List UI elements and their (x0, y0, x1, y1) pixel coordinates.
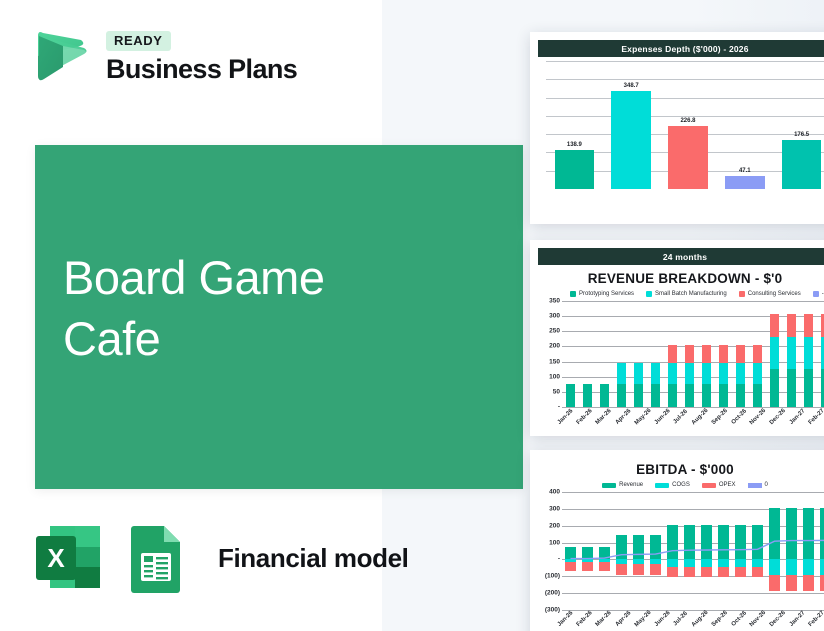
play-triangle-logo-icon (30, 26, 92, 88)
chart-header-revenue: 24 months (538, 248, 824, 265)
x-tick-label: May-26 (634, 610, 653, 629)
stacked-bar (787, 314, 797, 407)
x-tick-slot: Jan-26 (556, 616, 575, 622)
x-tick-label: Nov-26 (749, 408, 767, 426)
bar-segment (634, 384, 644, 407)
bar-segment (804, 369, 814, 407)
legend-label: Small Batch Manufacturing (655, 291, 727, 297)
x-tick-label: Dec-26 (769, 610, 787, 628)
legend-swatch (702, 483, 716, 488)
bar-segment (787, 369, 797, 407)
bar-segment (702, 384, 712, 407)
bar-slot (613, 301, 630, 407)
y-tick-label: 100 (549, 539, 560, 546)
stacked-bar (685, 345, 695, 407)
x-tick-label: Feb-26 (576, 610, 594, 628)
hero-panel: Board Game Cafe (35, 145, 523, 489)
google-sheets-icon (120, 520, 192, 596)
bar-segment (753, 363, 763, 384)
page-title: Board Game Cafe (63, 247, 324, 369)
x-tick-label: Feb-27 (808, 408, 824, 426)
chart-legend-ebitda: RevenueCOGSOPEX0 (530, 482, 824, 488)
x-tick-slot: Feb-26 (575, 616, 594, 622)
x-tick-slot: Apr-26 (614, 414, 633, 420)
chart-header-expenses: Expenses Depth ($'000) - 2026 (538, 40, 824, 57)
legend-swatch (739, 291, 745, 297)
bar (782, 140, 822, 189)
legend-swatch (655, 483, 669, 488)
stacked-bar (736, 345, 746, 407)
bar-segment (719, 345, 729, 363)
x-tick-slot: Oct-26 (730, 616, 749, 622)
gridline (562, 407, 824, 408)
bar-slot (800, 301, 817, 407)
chart-card-ebitda: EBITDA - $'000 RevenueCOGSOPEX0 40030020… (530, 450, 824, 631)
bar-segment (821, 369, 824, 407)
chart-card-expenses: Expenses Depth ($'000) - 2026 138.9348.7… (530, 32, 824, 224)
bar-slot (783, 301, 800, 407)
x-tick-slot: Feb-26 (575, 414, 594, 420)
y-tick-label: 200 (549, 522, 560, 529)
x-tick-slot: Jul-26 (672, 616, 689, 622)
bar-segment (821, 337, 824, 369)
chart-y-axis: -50100150200250300350 (536, 301, 562, 407)
x-tick-slot: Sep-26 (710, 414, 730, 420)
x-tick-slot: Jan-27 (788, 414, 807, 420)
y-tick-label: 400 (549, 489, 560, 496)
stacked-bar (600, 384, 610, 407)
x-tick-label: Jun-26 (654, 408, 672, 426)
x-tick-label: Sep-26 (711, 408, 729, 426)
legend-label: Consulting Services (748, 291, 801, 297)
bar-slot (647, 301, 664, 407)
bar-slot: 226.8 (660, 61, 717, 189)
x-tick-label: Nov-26 (749, 610, 767, 628)
bar-segment (753, 384, 763, 407)
stacked-bar (566, 384, 576, 407)
bar-segment (804, 337, 814, 369)
x-tick-label: Jul-26 (673, 409, 690, 426)
bar-segment (736, 345, 746, 363)
stacked-bar (651, 363, 661, 407)
bar-segment (719, 363, 729, 384)
x-tick-label: Apr-26 (614, 610, 632, 628)
bar-segment (787, 337, 797, 369)
stacked-bar (583, 384, 593, 407)
bar-segment (770, 369, 780, 407)
x-tick-slot: Aug-26 (690, 414, 710, 420)
x-tick-slot: Apr-26 (614, 616, 633, 622)
x-tick-slot: Jul-26 (672, 414, 689, 420)
ready-badge: READY (106, 31, 171, 51)
y-tick-label: 50 (553, 388, 560, 395)
bar-slot (681, 301, 698, 407)
bar-slot: 348.7 (603, 61, 660, 189)
chart-x-axis: Jan-26Feb-26Mar-26Apr-26May-26Jun-26Jul-… (556, 616, 824, 622)
bar-segment (702, 345, 712, 363)
y-tick-label: (200) (545, 590, 560, 597)
legend-label: 0 (765, 482, 768, 488)
bar-segment (753, 345, 763, 363)
stacked-bar (719, 345, 729, 407)
bar-segment (566, 384, 576, 407)
bar-value-label: 348.7 (624, 83, 639, 89)
x-tick-slot: Feb-27 (807, 616, 824, 622)
bar-segment (685, 345, 695, 363)
bar-slot (715, 301, 732, 407)
y-tick-label: - (558, 404, 560, 411)
stacked-bar (770, 314, 780, 407)
legend-item: OPEX (702, 482, 736, 488)
legend-item: - (813, 291, 824, 297)
microsoft-excel-icon: X (32, 520, 104, 596)
x-tick-label: Jun-26 (654, 610, 672, 628)
legend-label: COGS (672, 482, 690, 488)
bar-segment (617, 363, 627, 384)
bar-slot (749, 301, 766, 407)
x-tick-slot: Dec-26 (768, 414, 788, 420)
bar-slot (698, 301, 715, 407)
legend-item: Consulting Services (739, 291, 801, 297)
legend-label: - (822, 291, 824, 297)
bar-segment (787, 314, 797, 337)
x-tick-label: Oct-26 (730, 408, 747, 425)
x-tick-slot: Oct-26 (730, 414, 749, 420)
chart-legend-revenue: Prototyping ServicesSmall Batch Manufact… (530, 291, 824, 297)
bar-segment (651, 384, 661, 407)
x-tick-slot: May-26 (633, 616, 653, 622)
bar (611, 91, 651, 189)
bar-slot (664, 301, 681, 407)
legend-swatch (646, 291, 652, 297)
legend-swatch (602, 483, 616, 488)
brand-logo: READY Business Plans (30, 26, 297, 88)
x-tick-label: Sep-26 (711, 610, 729, 628)
x-tick-label: Feb-27 (808, 610, 824, 628)
x-tick-label: Aug-26 (691, 610, 710, 629)
bar (668, 126, 708, 190)
bar-slot: 176.5 (773, 61, 824, 189)
legend-item: Small Batch Manufacturing (646, 291, 727, 297)
chart-plot-revenue: -50100150200250300350 (536, 301, 824, 407)
x-tick-slot: Mar-26 (594, 414, 613, 420)
legend-swatch (570, 291, 576, 297)
bar-segment (668, 345, 678, 363)
x-tick-slot: Jun-26 (653, 616, 672, 622)
bar-segment (600, 384, 610, 407)
y-tick-label: 150 (549, 358, 560, 365)
x-tick-label: Apr-26 (614, 408, 632, 426)
y-tick-label: 300 (549, 313, 560, 320)
x-tick-label: Jan-26 (557, 408, 575, 426)
bar-slot (732, 301, 749, 407)
y-tick-label: (100) (545, 573, 560, 580)
legend-swatch (748, 483, 762, 488)
chart-plot-expenses: 138.9348.7226.847.1176.5 (536, 61, 824, 189)
x-tick-label: Mar-26 (595, 408, 613, 426)
bar-slot (579, 301, 596, 407)
bar-segment (668, 384, 678, 407)
x-tick-slot: Dec-26 (768, 616, 788, 622)
y-tick-label: 350 (549, 298, 560, 305)
svg-text:X: X (47, 543, 65, 573)
x-tick-slot: Nov-26 (748, 414, 768, 420)
bar-segment (685, 363, 695, 384)
bar-segment (634, 363, 644, 384)
bar-slot: 47.1 (716, 61, 773, 189)
y-tick-label: (300) (545, 607, 560, 614)
chart-x-axis: Jan-26Feb-26Mar-26Apr-26May-26Jun-26Jul-… (556, 414, 824, 420)
x-tick-slot: Nov-26 (748, 616, 768, 622)
y-tick-label: 250 (549, 328, 560, 335)
y-tick-label: 200 (549, 343, 560, 350)
brand-name: Business Plans (106, 55, 297, 83)
legend-item: Prototyping Services (570, 291, 634, 297)
bar-slot (630, 301, 647, 407)
x-tick-label: Feb-26 (576, 408, 594, 426)
legend-label: Revenue (619, 482, 643, 488)
bar-value-label: 47.1 (739, 168, 751, 174)
chart-trend-line (562, 492, 824, 610)
x-tick-slot: Aug-26 (690, 616, 710, 622)
stacked-bar (634, 363, 644, 407)
chart-plot-ebitda: 400300200100-(100)(200)(300) (536, 492, 824, 610)
bar-segment (583, 384, 593, 407)
x-tick-label: Jul-26 (673, 611, 690, 628)
x-tick-slot: Jan-26 (556, 414, 575, 420)
x-tick-slot: Mar-26 (594, 616, 613, 622)
bar-slot (766, 301, 783, 407)
stacked-bar (668, 345, 678, 407)
bar-slot (562, 301, 579, 407)
financial-model-label: Financial model (218, 543, 409, 574)
bar-segment (770, 337, 780, 369)
chart-bars (562, 301, 824, 407)
bar-slot: 138.9 (546, 61, 603, 189)
x-tick-slot: Jun-26 (653, 414, 672, 420)
bar-segment (685, 384, 695, 407)
stacked-bar (617, 363, 627, 407)
y-tick-label: 100 (549, 373, 560, 380)
bar-segment (821, 314, 824, 337)
chart-title-revenue: REVENUE BREAKDOWN - $'0 (530, 271, 824, 286)
legend-item: COGS (655, 482, 690, 488)
stacked-bar (753, 345, 763, 407)
stacked-bar (804, 314, 814, 407)
x-tick-label: May-26 (634, 408, 653, 427)
x-tick-slot: May-26 (633, 414, 653, 420)
bar-value-label: 138.9 (567, 142, 582, 148)
x-tick-label: Dec-26 (769, 408, 787, 426)
bar-segment (736, 384, 746, 407)
x-tick-label: Jan-27 (789, 610, 807, 628)
bar-segment (651, 363, 661, 384)
x-tick-label: Oct-26 (730, 610, 747, 627)
stacked-bar (821, 314, 824, 407)
bar-value-label: 226.8 (680, 118, 695, 124)
x-tick-label: Mar-26 (595, 610, 613, 628)
bar (555, 150, 595, 189)
x-tick-label: Aug-26 (691, 408, 710, 427)
legend-item: 0 (748, 482, 768, 488)
stacked-bar (702, 345, 712, 407)
legend-item: Revenue (602, 482, 643, 488)
y-tick-label: 300 (549, 505, 560, 512)
chart-card-revenue: 24 months REVENUE BREAKDOWN - $'0 Protot… (530, 240, 824, 436)
bar-segment (719, 384, 729, 407)
y-tick-label: - (558, 556, 560, 563)
bar-segment (736, 363, 746, 384)
x-tick-slot: Sep-26 (710, 616, 730, 622)
chart-y-axis: 400300200100-(100)(200)(300) (536, 492, 562, 610)
bar-segment (804, 314, 814, 337)
bar-segment (617, 384, 627, 407)
legend-label: Prototyping Services (579, 291, 634, 297)
bar-slot (596, 301, 613, 407)
bar-segment (702, 363, 712, 384)
legend-label: OPEX (719, 482, 736, 488)
x-tick-slot: Jan-27 (788, 616, 807, 622)
legend-swatch (813, 291, 819, 297)
bar-slot (817, 301, 824, 407)
bar (725, 176, 765, 189)
x-tick-label: Jan-27 (789, 408, 807, 426)
x-tick-slot: Feb-27 (807, 414, 824, 420)
bar-value-label: 176.5 (794, 132, 809, 138)
bar-segment (770, 314, 780, 337)
bar-segment (668, 363, 678, 384)
chart-title-ebitda: EBITDA - $'000 (530, 462, 824, 477)
footer-formats: X Financial model (32, 520, 409, 596)
chart-bars: 138.9348.7226.847.1176.5 (546, 61, 824, 189)
